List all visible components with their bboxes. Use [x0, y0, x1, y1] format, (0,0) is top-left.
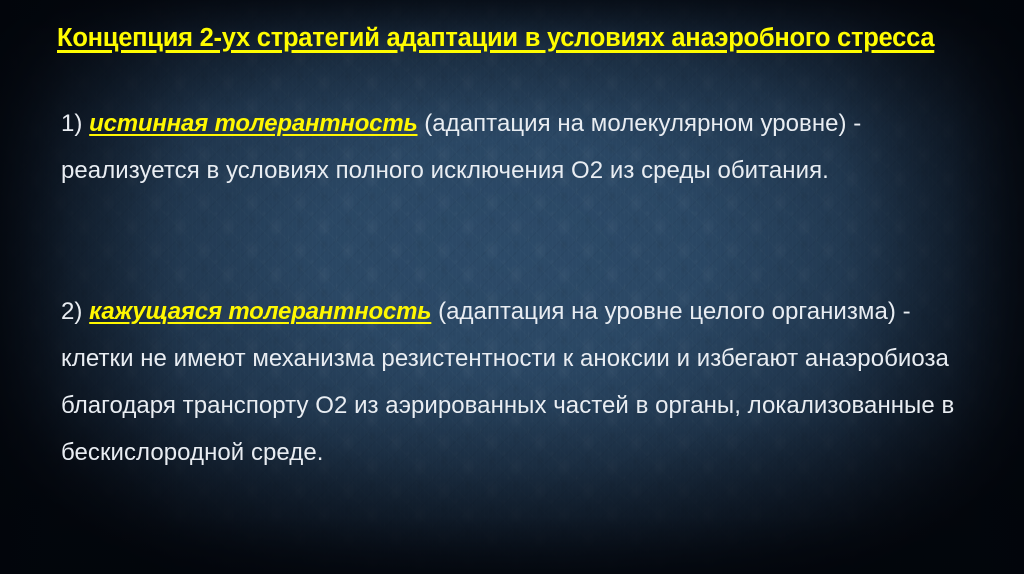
body-paragraph-2: 2) кажущаяся толерантность (адаптация на… — [61, 288, 961, 476]
paragraph-2-marker: 2) — [61, 298, 82, 325]
slide-title: Концепция 2-ух стратегий адаптации в усл… — [57, 24, 969, 52]
presentation-slide: Концепция 2-ух стратегий адаптации в усл… — [0, 0, 1024, 574]
paragraph-1-term: истинная толерантность — [89, 110, 417, 137]
paragraph-2-term: кажущаяся толерантность — [89, 298, 431, 325]
body-paragraph-1: 1) истинная толерантность (адаптация на … — [61, 100, 961, 194]
paragraph-1-marker: 1) — [61, 110, 82, 137]
slide-content: Концепция 2-ух стратегий адаптации в усл… — [0, 0, 1024, 574]
